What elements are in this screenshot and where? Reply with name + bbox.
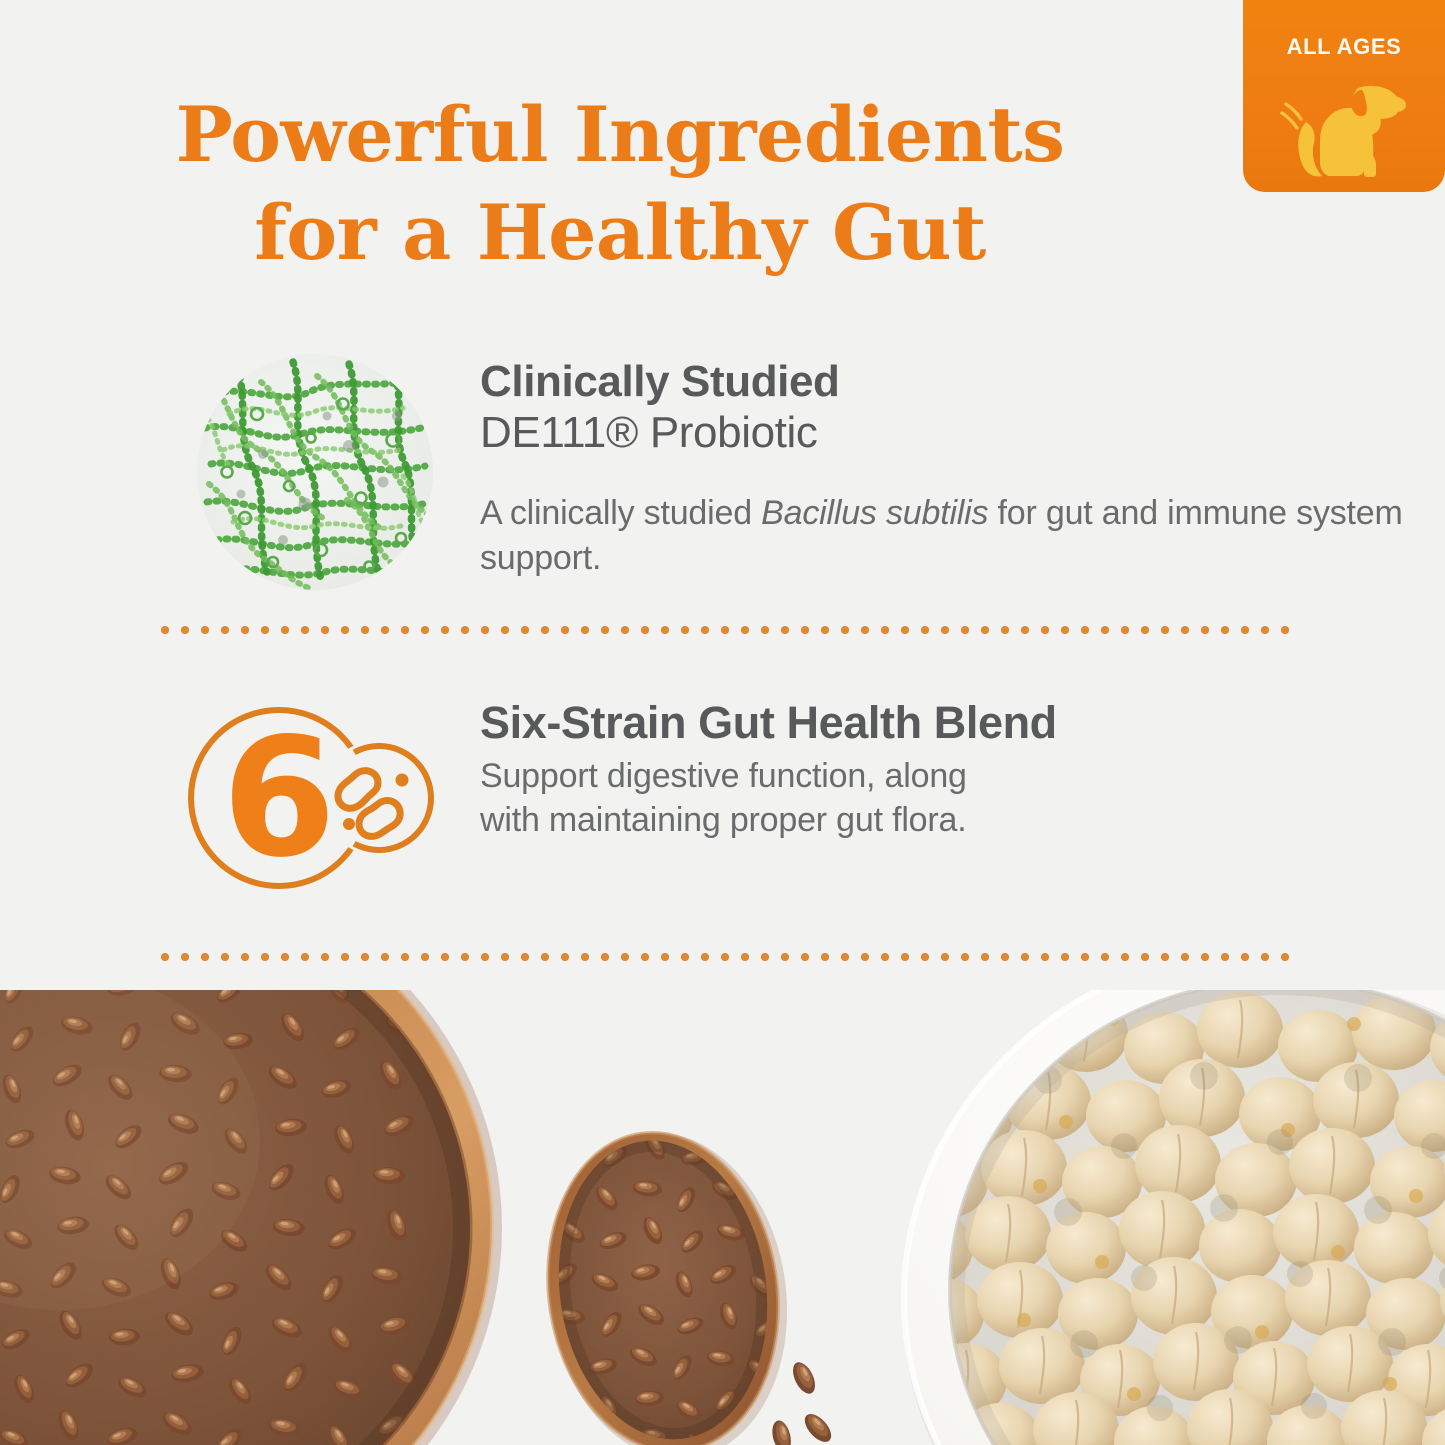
feature-2-body-line1: Support digestive function, along <box>480 757 967 795</box>
all-ages-badge: ALL AGES <box>1243 0 1445 192</box>
feature-row-probiotic: Clinically Studied DE111® Probiotic A cl… <box>150 352 1445 590</box>
infographic-canvas: ALL AGES <box>0 0 1445 1445</box>
feature-2-heading: Six-Strain Gut Health Blend <box>480 698 1057 748</box>
probiotic-microscopy-circle-icon <box>197 354 433 590</box>
feature-2-icon-slot: 6 <box>150 694 480 898</box>
feature-1-body-pre: A clinically studied <box>480 494 761 532</box>
all-ages-label: ALL AGES <box>1243 34 1445 60</box>
feature-1-heading-light: DE111® Probiotic <box>480 407 1445 458</box>
six-strain-blend-icon: 6 <box>183 698 447 898</box>
feature-1-heading: Clinically Studied DE111® Probiotic <box>480 356 1445 459</box>
ingredient-photos <box>0 990 1445 1445</box>
page-title-line2: for a Healthy Gut <box>60 184 1180 282</box>
feature-1-body: A clinically studied Bacillus subtilis f… <box>480 491 1445 581</box>
feature-1-text: Clinically Studied DE111® Probiotic A cl… <box>480 352 1445 581</box>
wooden-bowl-of-flaxseed-photo <box>0 990 502 1445</box>
feature-1-body-species: Bacillus subtilis <box>761 494 988 532</box>
page-title: Powerful Ingredients for a Healthy Gut <box>60 86 1180 282</box>
feature-2-text: Six-Strain Gut Health Blend Support dige… <box>480 694 1057 843</box>
sitting-dog-silhouette-icon <box>1280 66 1408 184</box>
six-numeral: 6 <box>222 703 336 894</box>
feature-2-body: Support digestive function, along with m… <box>480 754 1057 844</box>
dotted-divider-2 <box>155 953 1291 961</box>
page-title-line1: Powerful Ingredients <box>176 90 1065 179</box>
feature-row-six-strain: 6 Six-Strain Gut Health Blend <box>150 694 1057 898</box>
dotted-divider-1 <box>155 626 1291 634</box>
feature-1-icon-slot <box>150 352 480 590</box>
feature-2-body-line2: with maintaining proper gut flora. <box>480 801 966 839</box>
feature-1-heading-bold: Clinically Studied <box>480 356 1445 407</box>
